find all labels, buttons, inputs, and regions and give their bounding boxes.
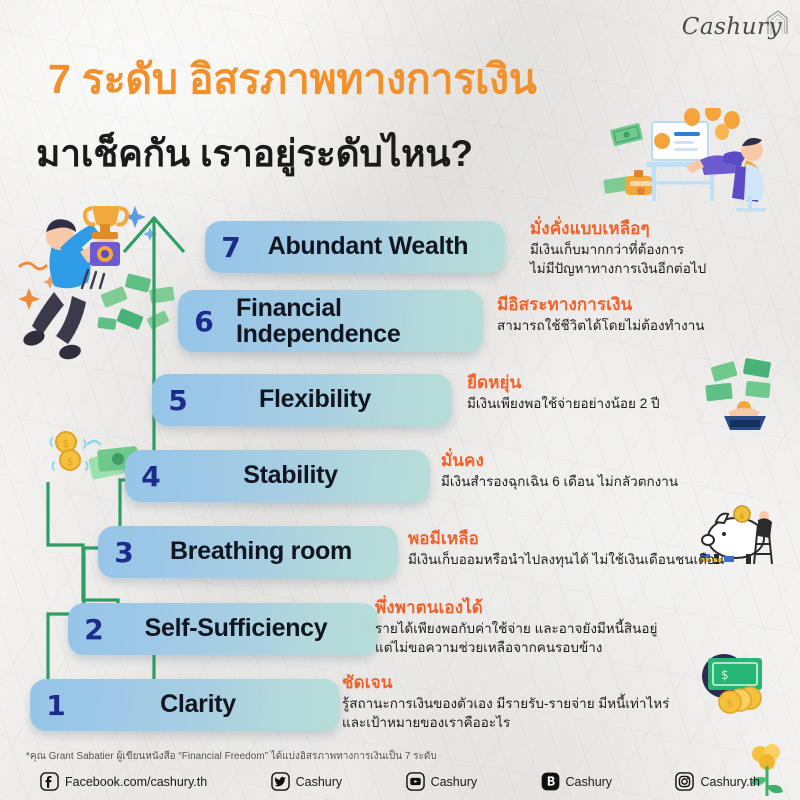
social-handle: Cashury	[431, 775, 478, 789]
social-youtube[interactable]: Cashury	[406, 772, 478, 791]
facebook-icon	[40, 772, 59, 791]
level-bar-4[interactable]: 4 Stability	[125, 450, 430, 502]
social-handle: Cashury	[566, 775, 613, 789]
level-description-4: มั่นคง มีเงินสำรองฉุกเฉิน 6 เดือน ไม่กลั…	[441, 450, 781, 491]
twitter-icon	[271, 772, 290, 791]
illustration-desk-coins	[596, 108, 796, 212]
level-bar-6[interactable]: 6 Financial Independence	[178, 290, 483, 352]
level-number: 4	[125, 460, 177, 493]
level-number: 2	[68, 613, 120, 646]
social-facebook[interactable]: Facebook.com/cashury.th	[40, 772, 207, 791]
level-bar-5[interactable]: 5 Flexibility	[152, 374, 452, 426]
social-blockdit[interactable]: Cashury	[541, 772, 613, 791]
level-heading: ชัดเจน	[342, 672, 772, 693]
level-heading: พึ่งพาตนเองได้	[375, 597, 775, 618]
social-handle: Facebook.com/cashury.th	[65, 775, 207, 789]
level-text-line: มีเงินเพียงพอใช้จ่ายอย่างน้อย 2 ปี	[467, 394, 767, 413]
svg-text:$: $	[739, 512, 745, 522]
level-label: Clarity	[82, 692, 340, 718]
level-text-line: ไม่มีปัญหาทางการเงินอีกต่อไป	[530, 259, 798, 278]
level-heading: ยืดหยุ่น	[467, 372, 767, 393]
page-title: 7 ระดับ อิสรภาพทางการเงิน	[48, 47, 537, 112]
social-instagram[interactable]: Cashury.th	[675, 772, 760, 791]
page-subtitle: มาเช็คกัน เราอยู่ระดับไหน?	[36, 124, 473, 183]
youtube-icon	[406, 772, 425, 791]
infographic-poster: Cashury 7 ระดับ อิสรภาพทางการเงิน มาเช็ค…	[0, 0, 800, 800]
level-description-2: พึ่งพาตนเองได้ รายได้เพียงพอกับค่าใช้จ่า…	[375, 597, 775, 658]
footnote: *คุณ Grant Sabatier ผู้เขียนหนังสือ “Fin…	[26, 749, 437, 764]
level-text-line: รู้สถานะการเงินของตัวเอง มีรายรับ-รายจ่า…	[342, 694, 772, 713]
level-text-line: สามารถใช้ชีวิตได้โดยไม่ต้องทำงาน	[497, 316, 797, 335]
level-number: 5	[152, 384, 204, 417]
level-text-line: และเป้าหมายของเราคืออะไร	[342, 713, 772, 732]
instagram-icon	[675, 772, 694, 791]
level-heading: มั่งคั่งแบบเหลือๆ	[530, 218, 798, 239]
level-heading: พอมีเหลือ	[408, 528, 798, 549]
level-description-6: มีอิสระทางการเงิน สามารถใช้ชีวิตได้โดยไม…	[497, 294, 797, 335]
social-links: Facebook.com/cashury.th Cashury Cashury	[0, 772, 800, 791]
social-handle: Cashury	[296, 775, 343, 789]
level-text-line: มีเงินเก็บมากกว่าที่ต้องการ	[530, 240, 798, 259]
brand-logo: Cashury	[682, 14, 782, 40]
social-twitter[interactable]: Cashury	[271, 772, 343, 791]
level-heading: มั่นคง	[441, 450, 781, 471]
level-number: 1	[30, 689, 82, 722]
level-label: Self-Sufficiency	[120, 616, 378, 642]
level-text-line: แต่ไม่ขอความช่วยเหลือจากคนรอบข้าง	[375, 638, 775, 657]
level-description-5: ยืดหยุ่น มีเงินเพียงพอใช้จ่ายอย่างน้อย 2…	[467, 372, 767, 413]
level-heading: มีอิสระทางการเงิน	[497, 294, 797, 315]
level-bar-7[interactable]: 7 Abundant Wealth	[205, 221, 505, 273]
level-label: Breathing room	[150, 539, 398, 565]
level-bar-2[interactable]: 2 Self-Sufficiency	[68, 603, 378, 655]
blockdit-icon	[541, 772, 560, 791]
level-number: 6	[178, 305, 230, 338]
level-description-7: มั่งคั่งแบบเหลือๆ มีเงินเก็บมากกว่าที่ต้…	[530, 218, 798, 279]
level-bar-1[interactable]: 1 Clarity	[30, 679, 340, 731]
social-handle: Cashury.th	[700, 775, 760, 789]
level-label: Financial Independence	[230, 295, 483, 348]
level-text-line: มีเงินสำรองฉุกเฉิน 6 เดือน ไม่กลัวตกงาน	[441, 472, 781, 491]
level-description-3: พอมีเหลือ มีเงินเก็บออมหรือนำไปลงทุนได้ …	[408, 528, 798, 569]
level-text-line: มีเงินเก็บออมหรือนำไปลงทุนได้ ไม่ใช้เงิน…	[408, 550, 798, 569]
level-text-line: รายได้เพียงพอกับค่าใช้จ่าย และอาจยังมีหน…	[375, 619, 775, 638]
level-description-1: ชัดเจน รู้สถานะการเงินของตัวเอง มีรายรับ…	[342, 672, 772, 733]
level-label: Flexibility	[204, 387, 452, 413]
level-bar-3[interactable]: 3 Breathing room	[98, 526, 398, 578]
level-number: 3	[98, 536, 150, 569]
level-label: Abundant Wealth	[257, 234, 505, 260]
level-label: Stability	[177, 463, 430, 489]
level-number: 7	[205, 231, 257, 264]
